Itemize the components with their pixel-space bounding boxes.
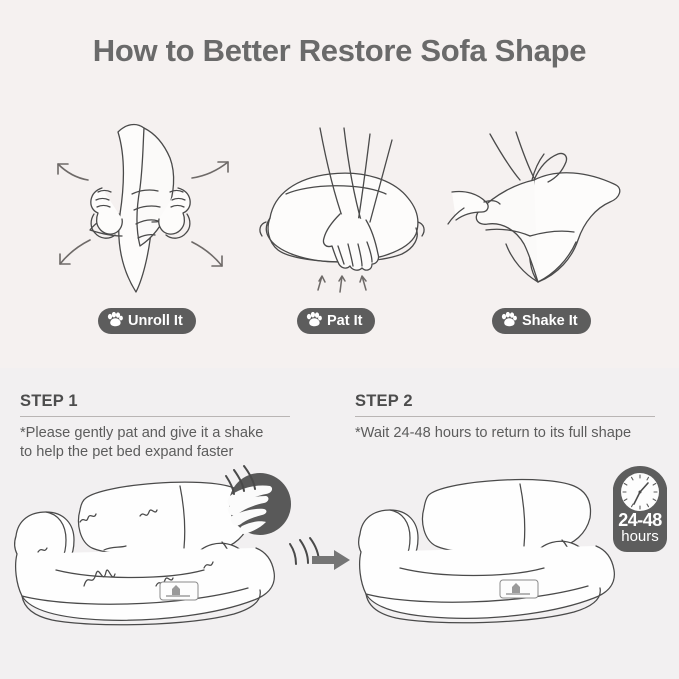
brand-tag (160, 582, 198, 600)
badge-label: Pat It (327, 313, 362, 329)
wrinkled-pet-bed (8, 462, 328, 632)
badge-unroll-it[interactable]: Unroll It (98, 308, 196, 334)
paw-icon (107, 312, 123, 331)
step-1-body: *Please gently pat and give it a shake t… (20, 424, 320, 463)
unroll-illustration (40, 118, 270, 308)
duration-unit: hours (607, 528, 673, 545)
shake-illustration (438, 118, 648, 308)
restored-pet-bed (350, 462, 650, 632)
illustration-row (0, 118, 679, 308)
badge-label: Unroll It (128, 313, 183, 329)
badge-pat-it[interactable]: Pat It (297, 308, 375, 334)
pat-illustration (252, 118, 442, 308)
paw-icon (306, 312, 322, 331)
right-arrow-icon (312, 548, 352, 577)
step-2-body: *Wait 24-48 hours to return to its full … (355, 424, 665, 443)
badge-shake-it[interactable]: Shake It (492, 308, 591, 334)
step-2-rule (355, 416, 655, 417)
step-1-block: STEP 1 *Please gently pat and give it a … (20, 392, 320, 463)
step-1-rule (20, 416, 290, 417)
duration-badge: 24-48 hours (607, 466, 673, 557)
step-2-block: STEP 2 *Wait 24-48 hours to return to it… (355, 392, 665, 443)
badge-label: Shake It (522, 313, 578, 329)
page-title: How to Better Restore Sofa Shape (0, 33, 679, 69)
infographic-page: How to Better Restore Sofa Shape (0, 0, 679, 679)
step-1-heading: STEP 1 (20, 392, 320, 416)
badge-row: Unroll It Pat It (0, 308, 679, 336)
brand-tag (500, 580, 538, 598)
step-2-heading: STEP 2 (355, 392, 665, 416)
paw-icon (501, 312, 517, 331)
